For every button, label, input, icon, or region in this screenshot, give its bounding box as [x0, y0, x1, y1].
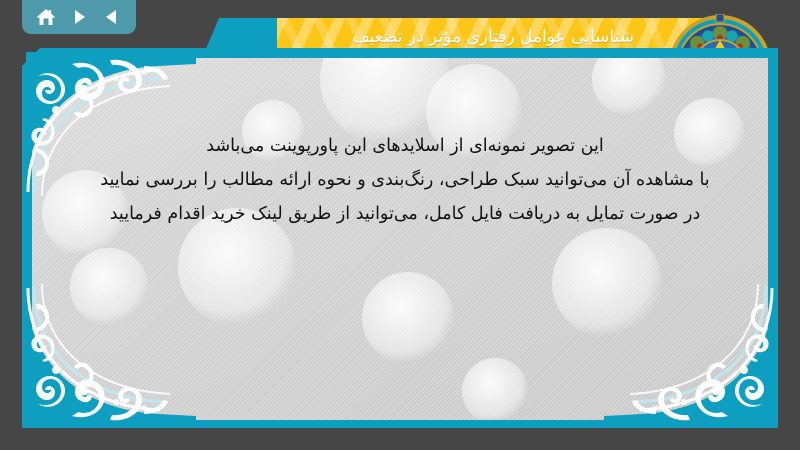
slide-viewer: شناسایی عوامل رفتاری مؤثر در تضعیف الگوی…: [0, 0, 800, 450]
triangle-right-icon: [69, 7, 89, 27]
navigation-bar: [22, 0, 136, 34]
bokeh-circle: [462, 358, 528, 420]
triangle-left-icon: [102, 7, 122, 27]
body-line-3: در صورت تمایل به دریافت فایل کامل، می‌تو…: [60, 202, 750, 227]
home-button[interactable]: [33, 5, 59, 29]
arabesque-corner-icon: [604, 278, 774, 428]
arabesque-corner-icon: [26, 278, 196, 428]
bokeh-circle: [362, 272, 454, 364]
back-button[interactable]: [99, 5, 125, 29]
body-line-2: با مشاهده آن می‌توانید سبک طراحی، رنگ‌بن…: [60, 168, 750, 193]
body-line-1: این تصویر نمونه‌ای از اسلایدهای این پاور…: [60, 134, 750, 159]
home-icon: [35, 7, 57, 27]
forward-button[interactable]: [66, 5, 92, 29]
title-line-1: شناسایی عوامل رفتاری مؤثر در تضعیف: [352, 25, 634, 50]
slide-body-text: این تصویر نمونه‌ای از اسلایدهای این پاور…: [60, 134, 750, 236]
